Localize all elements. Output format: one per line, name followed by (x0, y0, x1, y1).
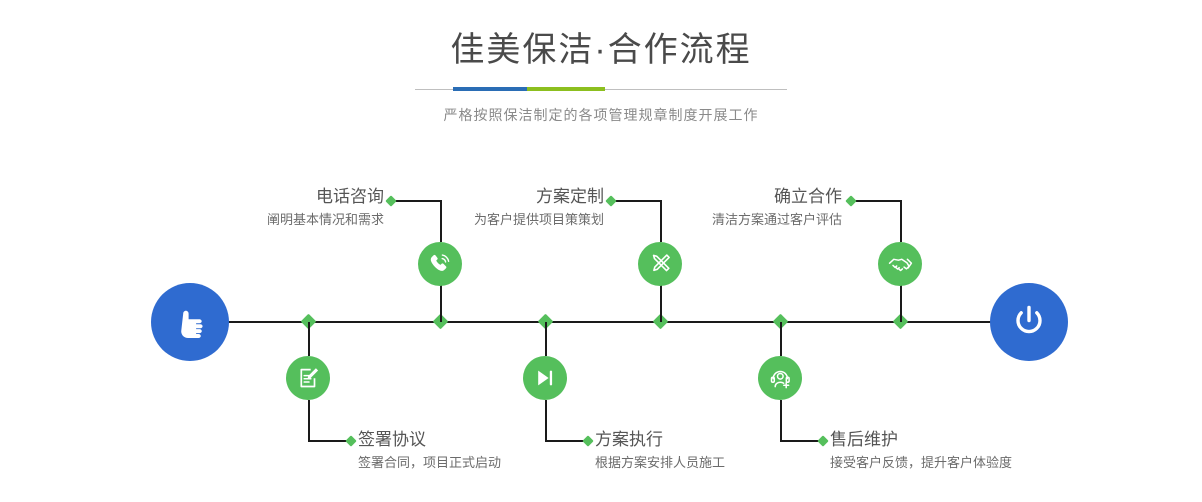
step-desc-2: 签署合同，项目正式启动 (358, 453, 618, 473)
label-marker-5 (845, 195, 856, 206)
connector-vertical-2 (308, 322, 310, 356)
phone-call-icon (427, 251, 453, 277)
step-label-1: 电话咨询 阐明基本情况和需求 (140, 186, 384, 230)
customer-service-add-icon (768, 366, 793, 391)
timeline-end-node[interactable] (990, 283, 1068, 361)
label-marker-2 (345, 435, 356, 446)
handshake-icon (887, 251, 914, 278)
connector-vertical-4 (545, 322, 547, 356)
step-title-3: 方案定制 (360, 186, 604, 208)
handshake-icon-badge[interactable] (878, 242, 922, 286)
connector-vertical-6 (780, 322, 782, 356)
connector-vertical-4-bottom (545, 400, 547, 442)
step-label-6: 售后维护 接受客户反馈，提升客户体验度 (830, 429, 1110, 473)
pointing-hand-icon (170, 302, 210, 342)
timeline-start-node[interactable] (151, 283, 229, 361)
step-label-2: 签署协议 签署合同，项目正式启动 (358, 429, 618, 473)
connector-horizontal-5 (852, 200, 902, 202)
step-label-5: 确立合作 清洁方案通过客户评估 (598, 186, 842, 230)
step-title-5: 确立合作 (598, 186, 842, 208)
connector-horizontal-4 (545, 440, 587, 442)
step-title-1: 电话咨询 (140, 186, 384, 208)
document-edit-icon-badge[interactable] (286, 356, 330, 400)
step-desc-3: 为客户提供项目策策划 (360, 210, 604, 230)
document-edit-icon (296, 366, 321, 391)
customer-service-add-icon-badge[interactable] (758, 356, 802, 400)
play-next-icon (533, 366, 557, 390)
step-desc-5: 清洁方案通过客户评估 (598, 210, 842, 230)
flow-diagram-page: 佳美保洁·合作流程 严格按照保洁制定的各项管理规章制度开展工作 (0, 0, 1202, 502)
power-icon (1008, 301, 1050, 343)
phone-call-icon-badge[interactable] (418, 242, 462, 286)
pencil-ruler-icon (647, 251, 673, 277)
connector-vertical-5-top (900, 200, 902, 242)
step-label-3: 方案定制 为客户提供项目策策划 (360, 186, 604, 230)
step-desc-6: 接受客户反馈，提升客户体验度 (830, 453, 1110, 473)
step-label-4: 方案执行 根据方案安排人员施工 (595, 429, 855, 473)
play-next-icon-badge[interactable] (523, 356, 567, 400)
connector-horizontal-6 (780, 440, 822, 442)
connector-vertical-2-bottom (308, 400, 310, 442)
step-desc-4: 根据方案安排人员施工 (595, 453, 855, 473)
step-title-6: 售后维护 (830, 429, 1110, 451)
timeline-axis (152, 321, 1050, 323)
process-timeline: 电话咨询 阐明基本情况和需求 (0, 0, 1202, 502)
connector-horizontal-2 (308, 440, 350, 442)
pencil-ruler-icon-badge[interactable] (638, 242, 682, 286)
connector-vertical-6-bottom (780, 400, 782, 442)
step-desc-1: 阐明基本情况和需求 (140, 210, 384, 230)
